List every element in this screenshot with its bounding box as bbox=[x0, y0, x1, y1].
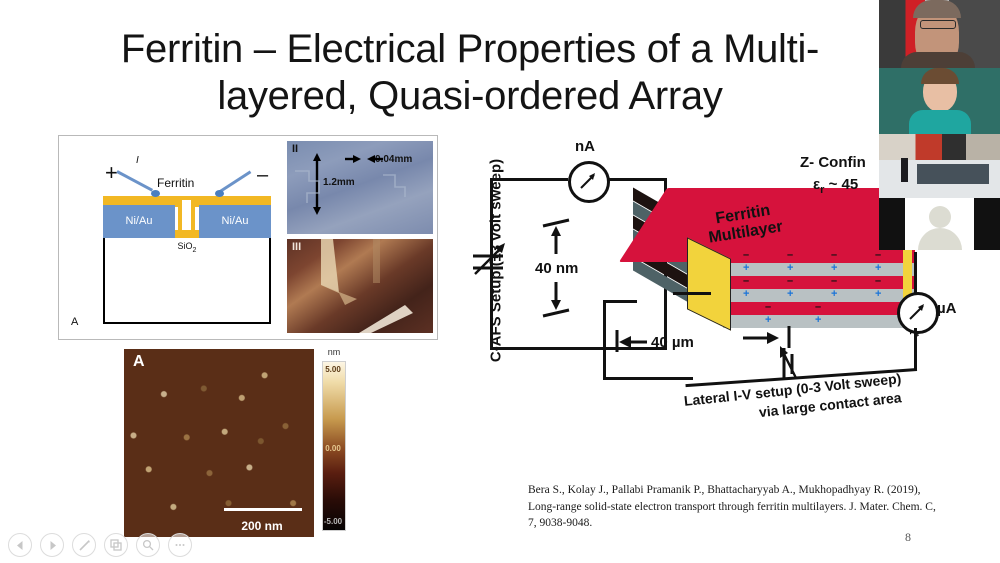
pen-icon bbox=[78, 539, 91, 552]
presentation-slide: Ferritin – Electrical Properties of a Mu… bbox=[0, 0, 1000, 563]
magnifier-icon bbox=[142, 539, 154, 551]
charge-pos-8: + bbox=[875, 288, 881, 300]
probe-tip-shape bbox=[287, 239, 433, 333]
title-line-1: Ferritin – Electrical Properties of a Mu… bbox=[0, 26, 940, 73]
previous-slide-button[interactable] bbox=[8, 533, 32, 557]
afm-scale-bar bbox=[224, 508, 302, 511]
tile-4-avatar-frame bbox=[905, 198, 974, 250]
charge-pos-5: + bbox=[743, 288, 749, 300]
title-line-2: layered, Quasi-ordered Array bbox=[0, 73, 940, 120]
ua-wire-lower bbox=[914, 328, 917, 370]
device-figure-panel: Si <100> SiO2 Ni/Au Ni/Au Ferritin + – I… bbox=[58, 135, 438, 340]
charge-neg-9: – bbox=[765, 301, 771, 313]
current-label: I bbox=[136, 155, 139, 166]
lateral-iv-setup-label: Lateral I-V setup (0-3 Volt sweep) via l… bbox=[683, 362, 975, 430]
afm-panel-label: A bbox=[133, 353, 145, 371]
colorbar-max-label: 5.00 bbox=[322, 365, 344, 374]
afm-scan-area: A 200 nm bbox=[124, 349, 314, 537]
tile-2-shirt bbox=[909, 110, 971, 134]
charge-neg-10: – bbox=[815, 301, 821, 313]
video-tile-participant-4[interactable] bbox=[879, 198, 1000, 250]
meter-needle-icon bbox=[579, 172, 597, 190]
meter-needle-icon-2 bbox=[908, 303, 926, 321]
charge-pos-6: + bbox=[787, 288, 793, 300]
colorbar-unit-label: nm bbox=[320, 347, 348, 357]
panel-a-label: A bbox=[71, 316, 78, 328]
tile-1-glasses bbox=[920, 20, 956, 29]
block-layer-red-2 bbox=[723, 276, 915, 289]
afm-topography-image: A 200 nm nm 5.00 0.00 -5.00 bbox=[124, 349, 354, 537]
probe-contact-left bbox=[151, 190, 160, 197]
probe-wire-left bbox=[116, 170, 153, 191]
z-confinement-label: Z- Confin bbox=[800, 154, 866, 171]
ua-wire-upper bbox=[914, 252, 917, 294]
tile-3-sky bbox=[879, 134, 1000, 162]
electrode-left: Ni/Au bbox=[103, 205, 175, 238]
avatar-head-icon bbox=[929, 206, 951, 228]
ferritin-label: Ferritin bbox=[157, 176, 194, 190]
nanoammeter bbox=[568, 161, 610, 203]
tile-1-torso bbox=[901, 52, 975, 68]
circuit-wire-top-right bbox=[607, 178, 667, 181]
block-layer-red-1 bbox=[723, 250, 915, 263]
microammeter-label: µA bbox=[937, 300, 956, 317]
annotate-button[interactable] bbox=[72, 533, 96, 557]
permittivity-value: ~ 45 bbox=[824, 176, 858, 193]
permittivity-label: εr ~ 45 bbox=[813, 176, 858, 196]
panel-ii-dimension-arrows bbox=[287, 141, 433, 234]
colorbar-mid-label: 0.00 bbox=[322, 444, 344, 453]
oxide-label: SiO2 bbox=[103, 237, 271, 256]
chevron-left-icon bbox=[15, 540, 26, 551]
lateral-width-arrows bbox=[607, 322, 907, 362]
more-options-button[interactable] bbox=[168, 533, 192, 557]
lateral-wire-left-riser bbox=[603, 300, 606, 378]
charge-neg-7: – bbox=[831, 275, 837, 287]
charge-pos-7: + bbox=[831, 288, 837, 300]
panel-iii-probe-photo: III bbox=[287, 239, 433, 333]
charge-neg-4: – bbox=[875, 249, 881, 261]
next-slide-button[interactable] bbox=[40, 533, 64, 557]
charge-neg-2: – bbox=[787, 249, 793, 261]
variable-voltage-source-icon bbox=[469, 240, 515, 286]
trench-gap bbox=[182, 200, 191, 230]
charge-neg-8: – bbox=[875, 275, 881, 287]
afm-scale-text: 200 nm bbox=[222, 519, 302, 533]
charge-pos-2: + bbox=[787, 262, 793, 274]
charge-neg-3: – bbox=[831, 249, 837, 261]
slide-toolbar bbox=[8, 533, 192, 557]
tile-3-structure bbox=[917, 164, 989, 184]
thickness-dimension-arrows bbox=[533, 216, 593, 336]
contact-lead bbox=[673, 292, 711, 295]
tile-1-hair bbox=[913, 0, 961, 18]
lateral-wire-to-contact bbox=[603, 300, 637, 303]
circuit-wire-top-left bbox=[490, 178, 568, 181]
nanoammeter-label: nA bbox=[575, 138, 595, 155]
colorbar-min-label: -5.00 bbox=[322, 517, 344, 526]
video-tile-strip bbox=[879, 0, 1000, 250]
microammeter bbox=[897, 292, 939, 334]
duplicate-button[interactable] bbox=[104, 533, 128, 557]
panel-a-cross-section: Si <100> SiO2 Ni/Au Ni/Au Ferritin + – I… bbox=[65, 140, 280, 336]
panel-ii-optical-micrograph: II 1.2mm 0.04mm bbox=[287, 141, 433, 234]
copy-icon bbox=[110, 539, 122, 551]
block-layer-gray-1 bbox=[723, 263, 915, 276]
chevron-right-icon bbox=[47, 540, 58, 551]
video-tile-participant-1[interactable] bbox=[879, 0, 1000, 68]
slide-number: 8 bbox=[905, 530, 911, 545]
charge-pos-4: + bbox=[875, 262, 881, 274]
electrode-right: Ni/Au bbox=[199, 205, 271, 238]
more-icon bbox=[174, 539, 186, 551]
video-tile-participant-3[interactable] bbox=[879, 134, 1000, 198]
citation-text: Bera S., Kolay J., Pallabi Pramanik P., … bbox=[528, 482, 940, 532]
probe-contact-right bbox=[215, 190, 224, 197]
charge-neg-1: – bbox=[743, 249, 749, 261]
avatar-body-icon bbox=[918, 228, 962, 250]
charge-pos-1: + bbox=[743, 262, 749, 274]
lateral-wire-bottom-left bbox=[603, 377, 693, 380]
page-title: Ferritin – Electrical Properties of a Mu… bbox=[0, 26, 940, 120]
minus-terminal: – bbox=[257, 165, 268, 185]
charge-pos-3: + bbox=[831, 262, 837, 274]
charge-neg-5: – bbox=[743, 275, 749, 287]
video-tile-participant-2[interactable] bbox=[879, 68, 1000, 134]
tile-3-person bbox=[901, 158, 908, 182]
zoom-out-button[interactable] bbox=[136, 533, 160, 557]
charge-neg-6: – bbox=[787, 275, 793, 287]
